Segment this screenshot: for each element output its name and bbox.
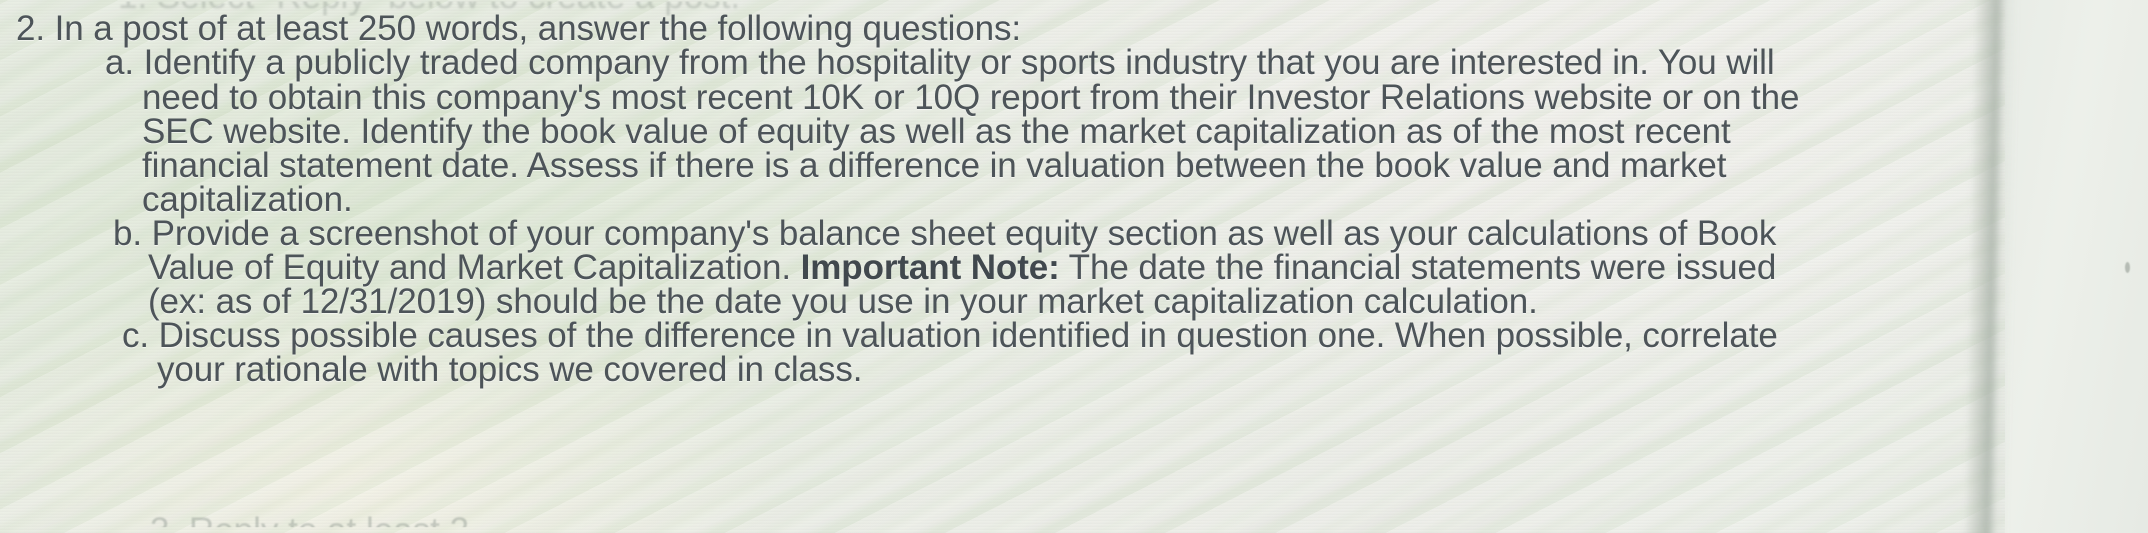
- screenshot-photo-of-screen: 1. Select "Reply" below to create a post…: [0, 0, 2148, 533]
- screen-background: [0, 0, 2148, 533]
